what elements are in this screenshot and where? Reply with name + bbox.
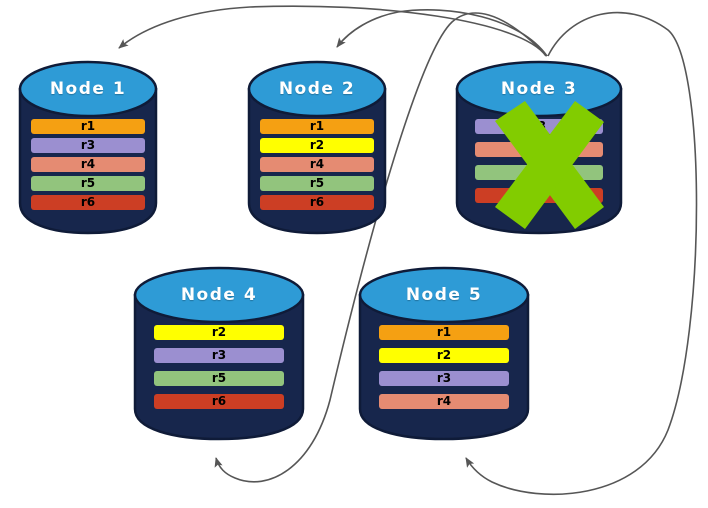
replica-label: r2 — [310, 138, 324, 152]
replica-list: r1 r3 r4 r5 r6 — [18, 119, 158, 210]
replica-label: r1 — [437, 325, 451, 339]
replica-list: r1 r2 r4 r5 r6 — [247, 119, 387, 210]
replica-row[interactable]: r5 — [154, 371, 284, 386]
replica-label: r1 — [81, 119, 95, 133]
replica-label: r6 — [310, 195, 324, 209]
replica-row[interactable]: r6 — [475, 188, 603, 203]
replica-label: r3 — [532, 119, 546, 133]
node-3[interactable]: Node 3 r3 r4 r5 r6 — [455, 57, 623, 235]
replica-label: r5 — [310, 176, 324, 190]
replica-label: r2 — [212, 325, 226, 339]
replica-row[interactable]: r4 — [475, 142, 603, 157]
replica-label: r4 — [532, 142, 546, 156]
arrow-node3-to-node1 — [119, 6, 546, 56]
replica-row[interactable]: r6 — [154, 394, 284, 409]
replica-row[interactable]: r3 — [379, 371, 509, 386]
replica-row[interactable]: r3 — [154, 348, 284, 363]
replica-row[interactable]: r6 — [260, 195, 374, 210]
replica-row[interactable]: r5 — [475, 165, 603, 180]
replica-row[interactable]: r2 — [154, 325, 284, 340]
replica-label: r3 — [437, 371, 451, 385]
replica-label: r6 — [532, 188, 546, 202]
replica-label: r6 — [81, 195, 95, 209]
replica-label: r2 — [437, 348, 451, 362]
replica-row[interactable]: r3 — [475, 119, 603, 134]
replica-label: r5 — [532, 165, 546, 179]
replica-row[interactable]: r4 — [31, 157, 145, 172]
node-2[interactable]: Node 2 r1 r2 r4 r5 r6 — [247, 57, 387, 235]
replica-row[interactable]: r3 — [31, 138, 145, 153]
replica-label: r5 — [212, 371, 226, 385]
replica-label: r1 — [310, 119, 324, 133]
node-4[interactable]: Node 4 r2 r3 r5 r6 — [133, 263, 305, 441]
replica-row[interactable]: r1 — [260, 119, 374, 134]
replica-label: r5 — [81, 176, 95, 190]
replica-label: r4 — [81, 157, 95, 171]
replica-row[interactable]: r4 — [379, 394, 509, 409]
replica-row[interactable]: r1 — [31, 119, 145, 134]
replica-label: r4 — [310, 157, 324, 171]
replica-row[interactable]: r2 — [260, 138, 374, 153]
replica-row[interactable]: r5 — [31, 176, 145, 191]
arrow-node3-to-node2 — [337, 10, 547, 56]
node-1[interactable]: Node 1 r1 r3 r4 r5 r6 — [18, 57, 158, 235]
replica-list: r1 r2 r3 r4 — [358, 325, 530, 409]
replica-row[interactable]: r2 — [379, 348, 509, 363]
replica-list: r2 r3 r5 r6 — [133, 325, 305, 409]
replica-row[interactable]: r1 — [379, 325, 509, 340]
replica-list: r3 r4 r5 r6 — [455, 119, 623, 203]
replica-row[interactable]: r6 — [31, 195, 145, 210]
node-5[interactable]: Node 5 r1 r2 r3 r4 — [358, 263, 530, 441]
replica-label: r3 — [81, 138, 95, 152]
replica-label: r4 — [437, 394, 451, 408]
diagram-canvas: Node 1 r1 r3 r4 r5 r6 Node 2 — [0, 0, 708, 508]
replica-label: r6 — [212, 394, 226, 408]
replica-label: r3 — [212, 348, 226, 362]
replica-row[interactable]: r5 — [260, 176, 374, 191]
replica-row[interactable]: r4 — [260, 157, 374, 172]
